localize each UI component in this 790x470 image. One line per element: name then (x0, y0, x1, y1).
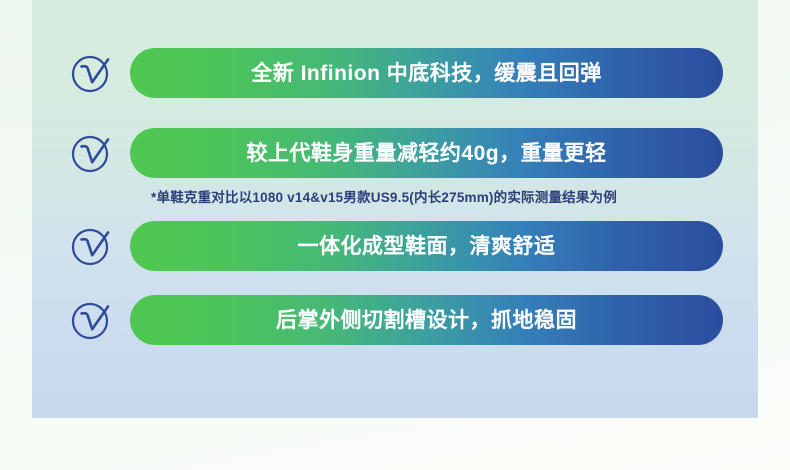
feature-text: 后掌外侧切割槽设计，抓地稳固 (276, 310, 577, 331)
product-feature-page: 全新 Infinion 中底科技，缓震且回弹 较上代鞋身重量减轻约40g，重量更… (0, 0, 790, 470)
feature-pill: 一体化成型鞋面，清爽舒适 (130, 221, 723, 271)
feature-text: 一体化成型鞋面，清爽舒适 (298, 236, 556, 257)
feature-row: 全新 Infinion 中底科技，缓震且回弹 (32, 45, 758, 101)
feature-pill: 后掌外侧切割槽设计，抓地稳固 (130, 295, 723, 345)
content-panel: 全新 Infinion 中底科技，缓震且回弹 较上代鞋身重量减轻约40g，重量更… (32, 0, 758, 418)
circle-check-v-icon (68, 222, 116, 270)
circle-check-v-icon (68, 49, 116, 97)
feature-row: 一体化成型鞋面，清爽舒适 (32, 218, 758, 274)
circle-check-v-icon (68, 129, 116, 177)
feature-row: 后掌外侧切割槽设计，抓地稳固 (32, 292, 758, 348)
footnote-text: *单鞋克重对比以1080 v14&v15男款US9.5(内长275mm)的实际测… (32, 186, 758, 206)
circle-check-v-icon (68, 296, 116, 344)
feature-text: 全新 Infinion 中底科技，缓震且回弹 (251, 63, 601, 84)
feature-text: 较上代鞋身重量减轻约40g，重量更轻 (246, 143, 606, 164)
feature-pill: 较上代鞋身重量减轻约40g，重量更轻 (130, 128, 723, 178)
feature-pill: 全新 Infinion 中底科技，缓震且回弹 (130, 48, 723, 98)
feature-row: 较上代鞋身重量减轻约40g，重量更轻 (32, 125, 758, 181)
